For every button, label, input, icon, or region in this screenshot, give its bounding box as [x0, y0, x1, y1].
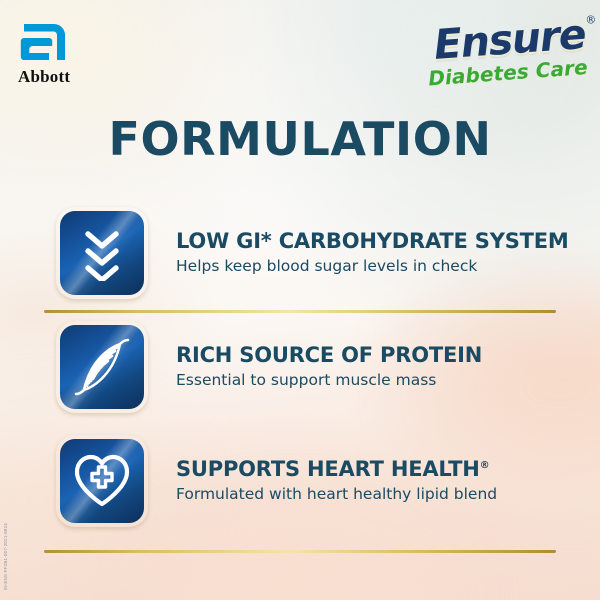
page-title: FORMULATION [0, 116, 600, 162]
feature-icon-tile [56, 321, 148, 413]
heart-with-cross-icon [60, 439, 144, 523]
poster-canvas: Abbott Ensure® Diabetes Care FORMULATION [0, 0, 600, 600]
feature-row-protein: RICH SOURCE OF PROTEIN Essential to supp… [0, 310, 600, 424]
triple-chevron-down-icon [60, 211, 144, 295]
feature-text: RICH SOURCE OF PROTEIN Essential to supp… [176, 344, 482, 390]
muscle-fiber-icon [60, 325, 144, 409]
feature-headline-superscript: ® [480, 460, 490, 471]
abbott-wordmark: Abbott [18, 67, 88, 87]
feature-list: LOW GI* CARBOHYDRATE SYSTEM Helps keep b… [0, 196, 600, 538]
ensure-wordmark: Ensure® [433, 14, 587, 65]
abbott-a-mark-icon [18, 18, 68, 66]
feature-icon-tile [56, 435, 148, 527]
feature-row-heart-health: SUPPORTS HEART HEALTH® Formulated with h… [0, 424, 600, 538]
feature-headline: LOW GI* CARBOHYDRATE SYSTEM [176, 230, 569, 252]
feature-subtext: Essential to support muscle mass [176, 371, 482, 390]
feature-row-low-gi: LOW GI* CARBOHYDRATE SYSTEM Helps keep b… [0, 196, 600, 310]
feature-headline: RICH SOURCE OF PROTEIN [176, 344, 482, 366]
feature-subtext: Formulated with heart healthy lipid blen… [176, 485, 497, 504]
legal-code: IN-ENS-FF2B1-007-2021-8824 [3, 523, 8, 590]
ensure-logo: Ensure® Diabetes Care [425, 14, 589, 91]
feature-text: LOW GI* CARBOHYDRATE SYSTEM Helps keep b… [176, 230, 569, 276]
feature-text: SUPPORTS HEART HEALTH® Formulated with h… [176, 458, 497, 504]
section-divider [44, 550, 556, 553]
feature-icon-tile [56, 207, 148, 299]
feature-headline-text: SUPPORTS HEART HEALTH [176, 457, 480, 481]
abbott-logo: Abbott [18, 18, 88, 87]
feature-subtext: Helps keep blood sugar levels in check [176, 257, 569, 276]
registered-mark: ® [585, 15, 596, 26]
feature-headline: SUPPORTS HEART HEALTH® [176, 458, 497, 480]
